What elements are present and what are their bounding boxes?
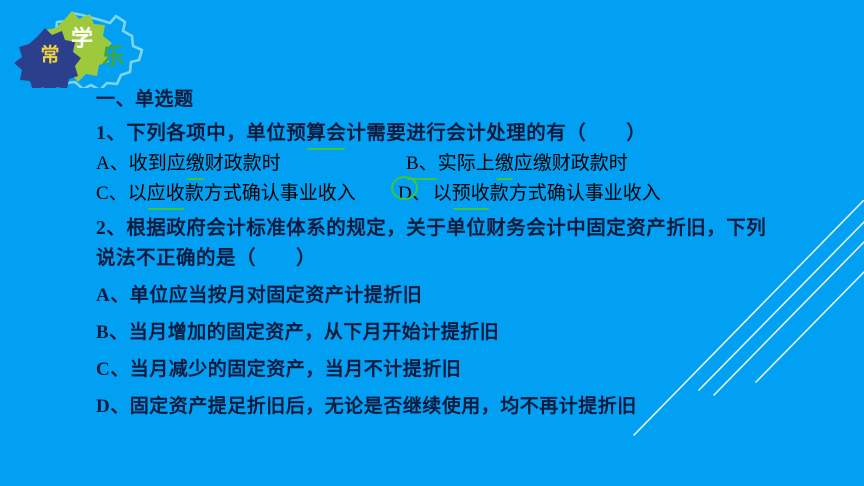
option-1-d-label-circled: D、 (396, 179, 433, 209)
option-2-b-label: B、 (96, 318, 129, 348)
option-2-c-text: 当月减少的固定资产，当月不计提折旧 (130, 355, 462, 385)
option-1-c-label: C、 (96, 183, 128, 204)
option-1-b-text-part1: 实际上 (438, 153, 495, 174)
question-1-stem-part2: 计需要进行会计处理的有（ ） (346, 123, 646, 144)
option-2-d[interactable]: D、固定资产提足折旧后，无论是否继续使用，均不再计提折旧 (96, 392, 836, 422)
option-2-b-text: 当月增加的固定资产，从下月开始计提折旧 (129, 318, 500, 348)
option-1-c-text-part2: 款方式确认事业收入 (185, 183, 356, 204)
logo-svg: 常 学 乐 (12, 4, 162, 88)
option-1-d-text-part2: 款方式确认事业收入 (490, 183, 661, 204)
option-2-d-label: D、 (96, 392, 130, 422)
option-2-a[interactable]: A、单位应当按月对固定资产计提折旧 (96, 281, 836, 311)
slide-canvas: 常 学 乐 一、单选题 1、下列各项中，单位预算会计需要进行会计处理的有（ ） … (0, 0, 864, 486)
option-1-b[interactable]: B、实际上缴应缴财政款时 (406, 149, 628, 179)
option-1-a-highlight: 缴 (186, 149, 205, 179)
question-1-stem-part1: 下列各项中，单位预 (126, 123, 306, 144)
option-1-b-highlight: 缴 (495, 149, 514, 179)
option-1-a-label: A、 (96, 153, 129, 174)
option-1-a-text-part1: 收到应 (129, 153, 186, 174)
question-1-number: 1、 (96, 123, 126, 144)
option-1-d-text-part1: 以 (433, 183, 452, 204)
logo-char-le: 乐 (102, 44, 124, 69)
option-2-b[interactable]: B、当月增加的固定资产，从下月开始计提折旧 (96, 318, 836, 348)
changxuele-gear-logo: 常 学 乐 (12, 4, 162, 88)
option-1-a[interactable]: A、收到应缴财政款时 (96, 149, 406, 179)
option-2-c-label: C、 (96, 355, 130, 385)
option-1-b-label: B、 (406, 149, 438, 179)
question-1-options-row-cd: C、以应收款方式确认事业收入 D、以预收款方式确认事业收入 (96, 179, 836, 209)
section-heading: 一、单选题 (96, 86, 836, 114)
section-heading-text: 一、单选题 (96, 89, 194, 110)
option-2-d-text: 固定资产提足折旧后，无论是否继续使用，均不再计提折旧 (130, 392, 637, 422)
slide-content: 一、单选题 1、下列各项中，单位预算会计需要进行会计处理的有（ ） A、收到应缴… (96, 86, 836, 422)
option-1-a-text-part2: 财政款时 (205, 153, 281, 174)
option-2-a-text: 单位应当按月对固定资产计提折旧 (130, 281, 423, 311)
option-1-c-highlight: 应收 (147, 179, 185, 209)
option-2-a-label: A、 (96, 281, 130, 311)
option-1-d[interactable]: D、以预收款方式确认事业收入 (396, 179, 661, 209)
option-1-c[interactable]: C、以应收款方式确认事业收入 (96, 179, 396, 209)
option-2-c[interactable]: C、当月减少的固定资产，当月不计提折旧 (96, 355, 836, 385)
question-1-options-row-ab: A、收到应缴财政款时 B、实际上缴应缴财政款时 (96, 149, 836, 179)
option-1-b-text-part2: 应缴财政款时 (514, 153, 628, 174)
question-2-stem: 2、根据政府会计标准体系的规定，关于单位财务会计中固定资产折旧，下列说法不正确的… (96, 214, 786, 274)
option-1-d-highlight: 预收 (452, 179, 490, 209)
question-2-number: 2、 (96, 218, 126, 239)
logo-char-xue: 学 (71, 26, 93, 51)
question-2-stem-text: 根据政府会计标准体系的规定，关于单位财务会计中固定资产折旧，下列说法不正确的是（… (96, 218, 766, 269)
option-1-c-text-part1: 以 (128, 183, 147, 204)
question-1-stem: 1、下列各项中，单位预算会计需要进行会计处理的有（ ） (96, 119, 836, 149)
logo-char-chang: 常 (40, 43, 59, 66)
question-1-stem-highlight: 算会 (306, 119, 346, 149)
